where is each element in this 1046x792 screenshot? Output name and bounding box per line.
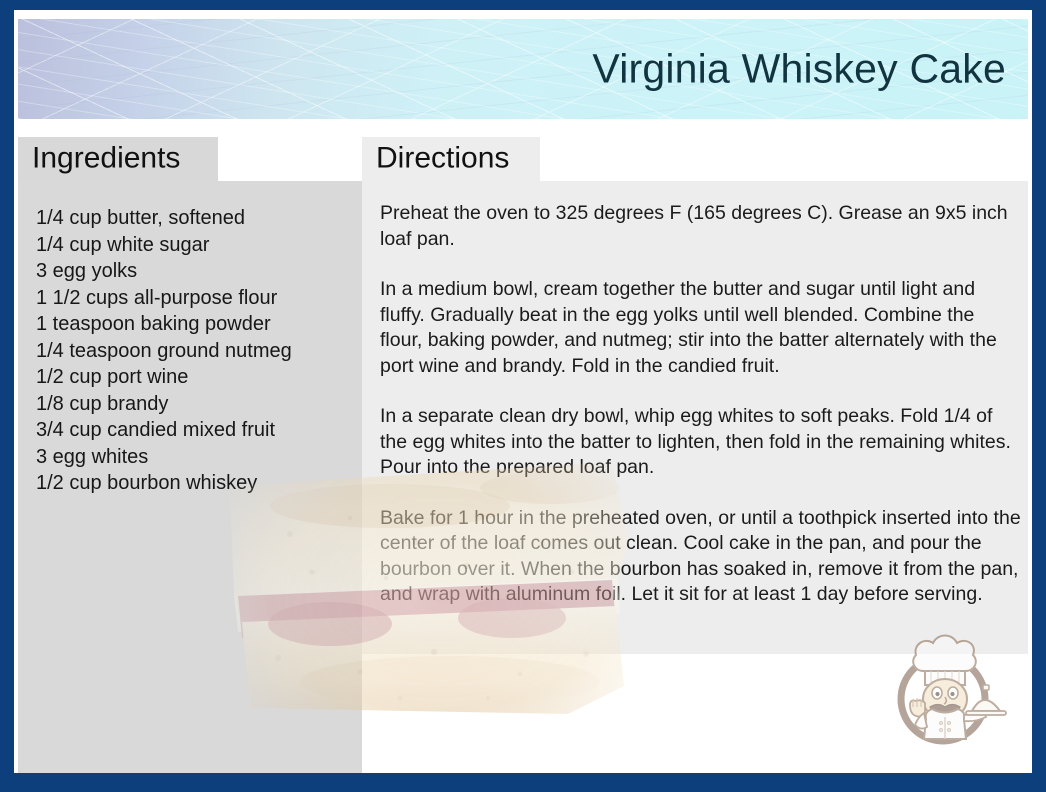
ingredient-item: 1/2 cup bourbon whiskey xyxy=(36,470,354,497)
direction-step: Bake for 1 hour in the preheated oven, o… xyxy=(380,506,1022,608)
directions-heading-box: Directions xyxy=(362,137,540,181)
directions-steps: Preheat the oven to 325 degrees F (165 d… xyxy=(380,201,1022,608)
recipe-page: Virginia Whiskey Cake Ingredients 1/4 cu… xyxy=(14,10,1032,773)
ingredient-item: 1 teaspoon baking powder xyxy=(36,311,354,338)
directions-heading: Directions xyxy=(376,141,509,175)
ingredient-item: 3 egg whites xyxy=(36,444,354,471)
ingredient-item: 1/4 cup butter, softened xyxy=(36,205,354,232)
ingredient-item: 1/4 teaspoon ground nutmeg xyxy=(36,338,354,365)
ingredient-item: 1 1/2 cups all-purpose flour xyxy=(36,285,354,312)
ingredient-item: 1/2 cup port wine xyxy=(36,364,354,391)
ingredient-item: 3 egg yolks xyxy=(36,258,354,285)
ingredients-heading-box: Ingredients xyxy=(18,137,218,181)
header-banner: Virginia Whiskey Cake xyxy=(18,19,1028,119)
recipe-card: Virginia Whiskey Cake Ingredients 1/4 cu… xyxy=(0,0,1046,792)
directions-panel: Preheat the oven to 325 degrees F (165 d… xyxy=(362,181,1028,654)
ingredients-list: 1/4 cup butter, softened1/4 cup white su… xyxy=(36,205,354,497)
recipe-title: Virginia Whiskey Cake xyxy=(592,46,1006,93)
direction-step: Preheat the oven to 325 degrees F (165 d… xyxy=(380,201,1022,252)
ingredient-item: 3/4 cup candied mixed fruit xyxy=(36,417,354,444)
ingredients-panel: 1/4 cup butter, softened1/4 cup white su… xyxy=(18,181,362,773)
ingredient-item: 1/4 cup white sugar xyxy=(36,232,354,259)
direction-step: In a medium bowl, cream together the but… xyxy=(380,277,1022,379)
ingredient-item: 1/8 cup brandy xyxy=(36,391,354,418)
ingredients-heading: Ingredients xyxy=(32,141,180,175)
direction-step: In a separate clean dry bowl, whip egg w… xyxy=(380,404,1022,481)
